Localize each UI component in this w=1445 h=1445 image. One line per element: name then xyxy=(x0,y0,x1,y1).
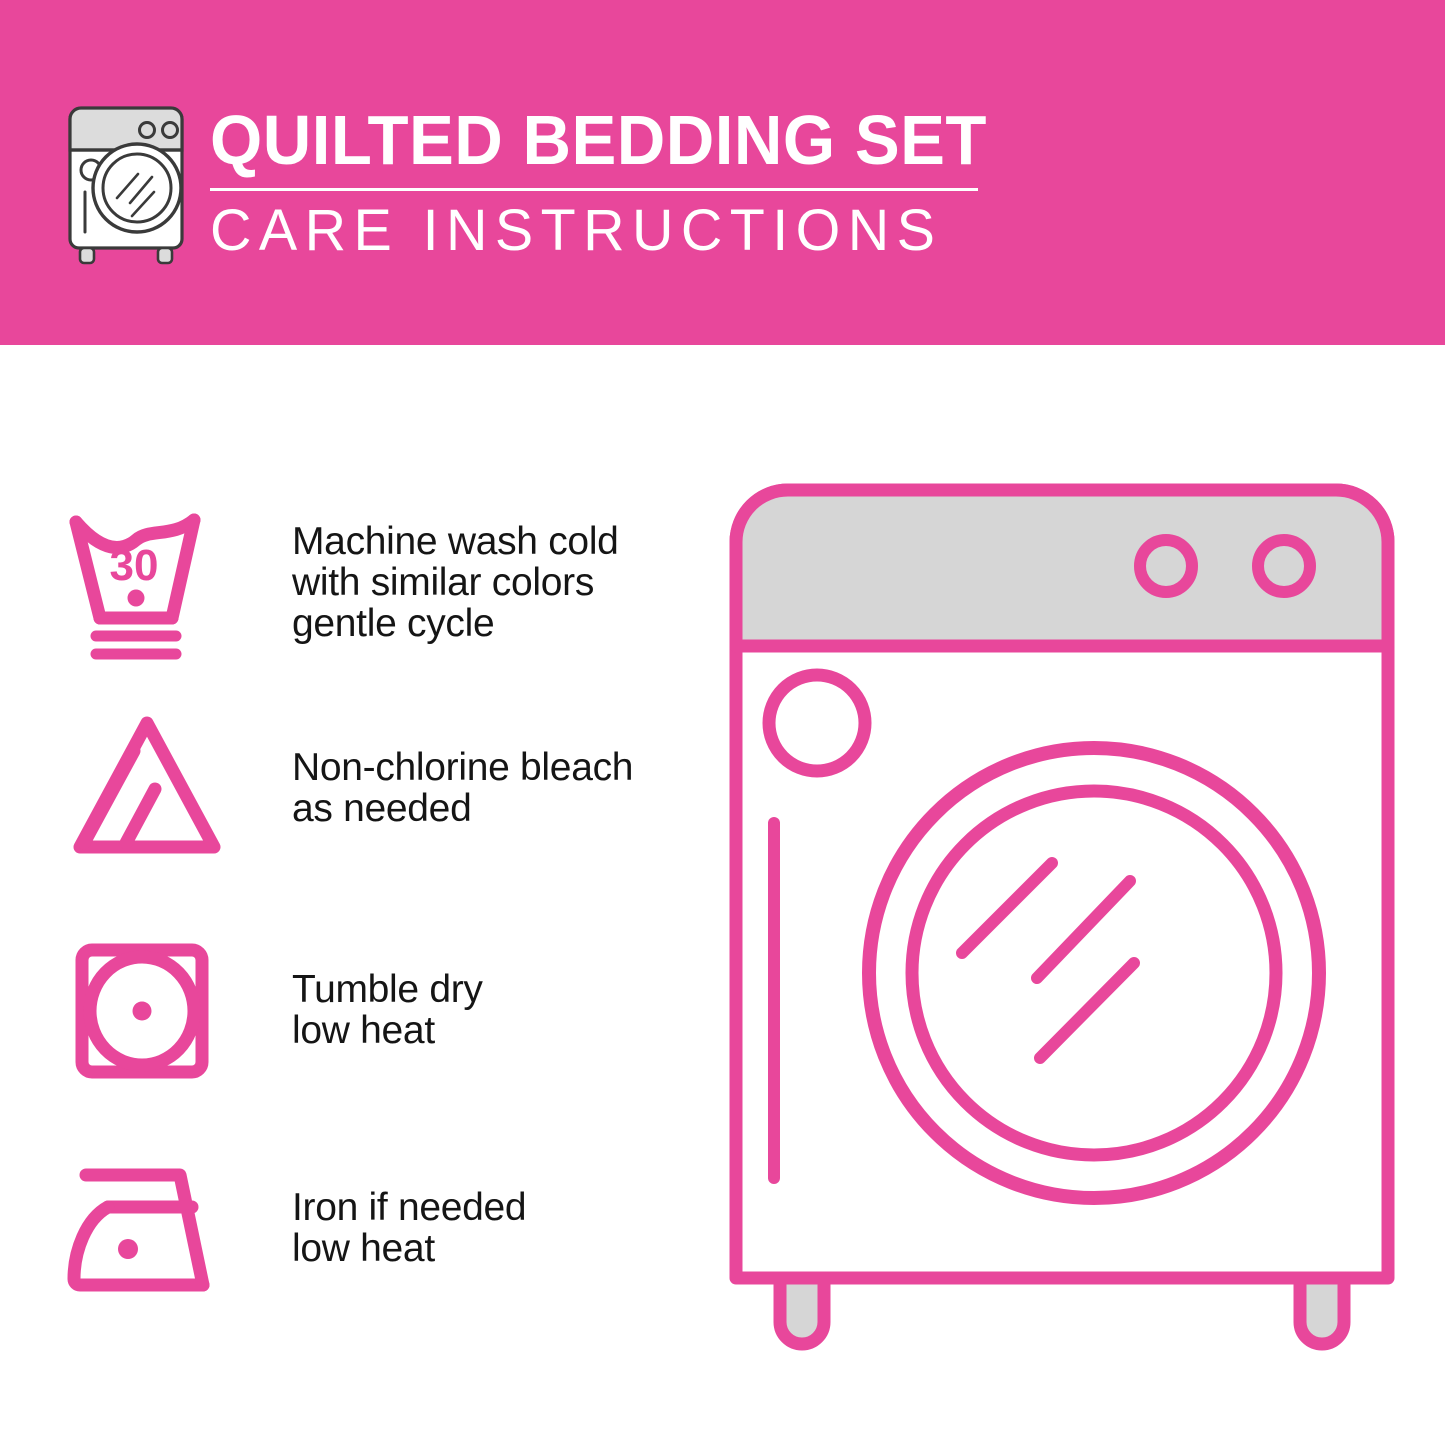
care-row-bleach: Non-chlorine bleach as needed xyxy=(0,705,700,870)
washer-leg-left xyxy=(780,1278,824,1344)
washer-door-inner-ring xyxy=(912,791,1276,1155)
wash-temperature-label: 30 xyxy=(110,541,159,590)
wash-tub-30-icon: 30 xyxy=(62,500,237,665)
large-washing-machine-illustration xyxy=(722,478,1402,1368)
care-text-bleach: Non-chlorine bleach as needed xyxy=(292,747,633,829)
header-banner: QUILTED BEDDING SET CARE INSTRUCTIONS xyxy=(0,0,1445,345)
care-line: Non-chlorine bleach xyxy=(292,747,633,788)
care-line: gentle cycle xyxy=(292,603,619,644)
page-title: QUILTED BEDDING SET xyxy=(210,103,968,177)
care-text-machine-wash: Machine wash cold with similar colors ge… xyxy=(292,521,619,644)
care-line: as needed xyxy=(292,788,633,829)
tumble-dry-icon xyxy=(62,928,237,1093)
care-line: low heat xyxy=(292,1010,483,1051)
care-text-tumble-dry: Tumble dry low heat xyxy=(292,969,483,1051)
washer-detergent-circle xyxy=(769,675,865,771)
care-line: low heat xyxy=(292,1228,526,1269)
care-instructions-page: QUILTED BEDDING SET CARE INSTRUCTIONS xyxy=(0,0,1445,1445)
care-text-iron: Iron if needed low heat xyxy=(292,1187,526,1269)
care-line: Machine wash cold xyxy=(292,521,619,562)
care-row-iron: Iron if needed low heat xyxy=(0,1140,700,1315)
care-line: with similar colors xyxy=(292,562,619,603)
care-line: Tumble dry xyxy=(292,969,483,1010)
bleach-triangle-icon xyxy=(62,705,237,870)
care-row-tumble-dry: Tumble dry low heat xyxy=(0,925,700,1095)
care-line: Iron if needed xyxy=(292,1187,526,1228)
title-divider xyxy=(210,188,978,191)
washing-machine-icon xyxy=(62,100,197,265)
iron-icon xyxy=(62,1145,237,1310)
washer-leg-right xyxy=(1300,1278,1344,1344)
header-text-block: QUILTED BEDDING SET CARE INSTRUCTIONS xyxy=(210,103,1000,262)
page-subtitle: CARE INSTRUCTIONS xyxy=(210,200,992,262)
washer-knob-right xyxy=(1258,540,1310,592)
care-row-machine-wash: 30 Machine wash cold with similar colors… xyxy=(0,495,700,670)
care-instruction-list: 30 Machine wash cold with similar colors… xyxy=(0,345,700,1445)
washer-knob-left xyxy=(1140,540,1192,592)
